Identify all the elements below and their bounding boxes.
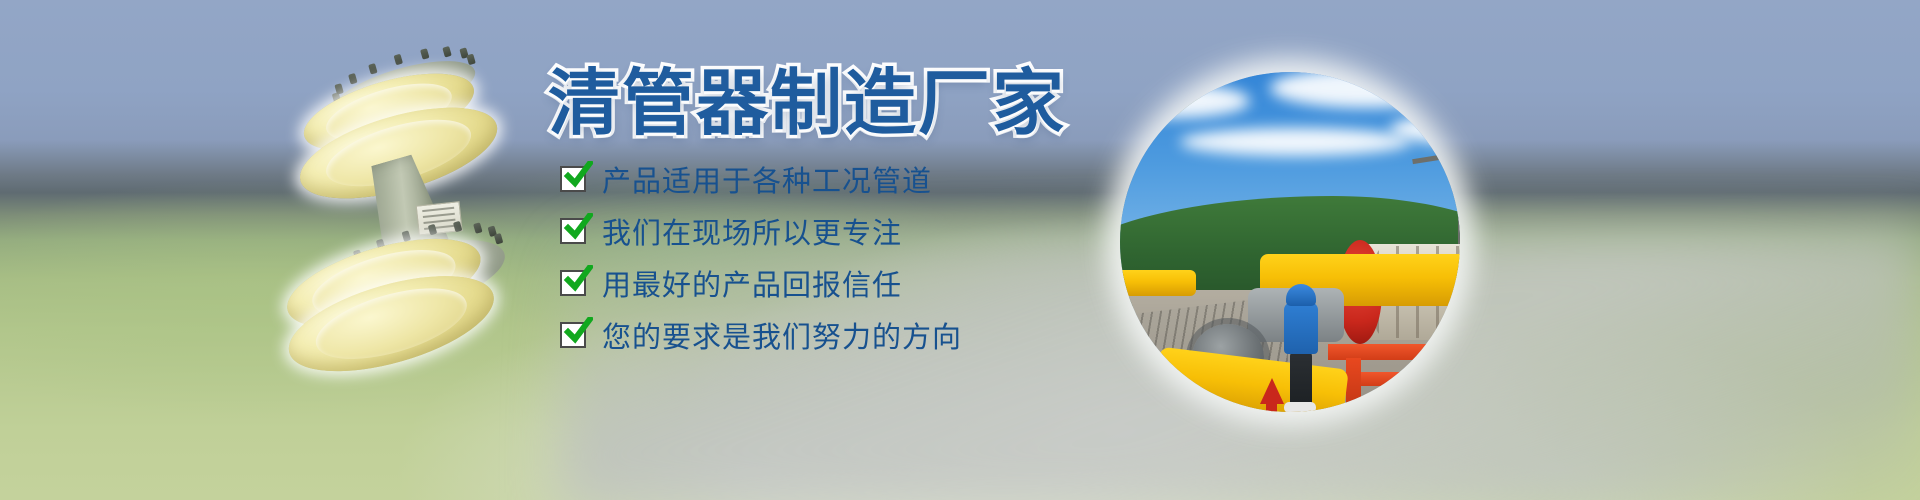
- photo-crane-mast: [1458, 154, 1460, 258]
- feature-item: 我们在现场所以更专注: [560, 207, 962, 255]
- photo-rail-leg: [1424, 358, 1439, 412]
- pipeline-pig-product-photo: [252, 68, 520, 368]
- photo-worker-shoes: [1284, 402, 1316, 412]
- photo-worker-legs: [1290, 352, 1312, 406]
- photo-pipe-left: [1120, 270, 1196, 296]
- check-icon: [560, 270, 586, 296]
- feature-item: 您的要求是我们努力的方向: [560, 311, 962, 359]
- feature-label: 产品适用于各种工况管道: [602, 158, 932, 200]
- photo-worker-helmet: [1286, 284, 1316, 306]
- feature-label: 我们在现场所以更专注: [602, 210, 902, 252]
- photo-worker-body: [1284, 302, 1318, 354]
- check-icon: [560, 322, 586, 348]
- check-icon: [560, 166, 586, 192]
- promo-banner: 清管器制造厂家 产品适用于各种工况管道 我们在现场所以更专注 用最好的产品回报信…: [0, 0, 1920, 500]
- feature-label: 您的要求是我们努力的方向: [602, 314, 962, 356]
- feature-list: 产品适用于各种工况管道 我们在现场所以更专注 用最好的产品回报信任 您的要求是我…: [560, 155, 962, 363]
- banner-title: 清管器制造厂家: [548, 44, 1066, 149]
- pipeline-field-site-photo: [1120, 72, 1460, 412]
- photo-rail-leg: [1346, 358, 1361, 412]
- photo-flow-arrow-head: [1260, 378, 1284, 404]
- check-icon: [560, 218, 586, 244]
- feature-item: 用最好的产品回报信任: [560, 259, 962, 307]
- feature-item: 产品适用于各种工况管道: [560, 155, 962, 203]
- feature-label: 用最好的产品回报信任: [602, 262, 902, 304]
